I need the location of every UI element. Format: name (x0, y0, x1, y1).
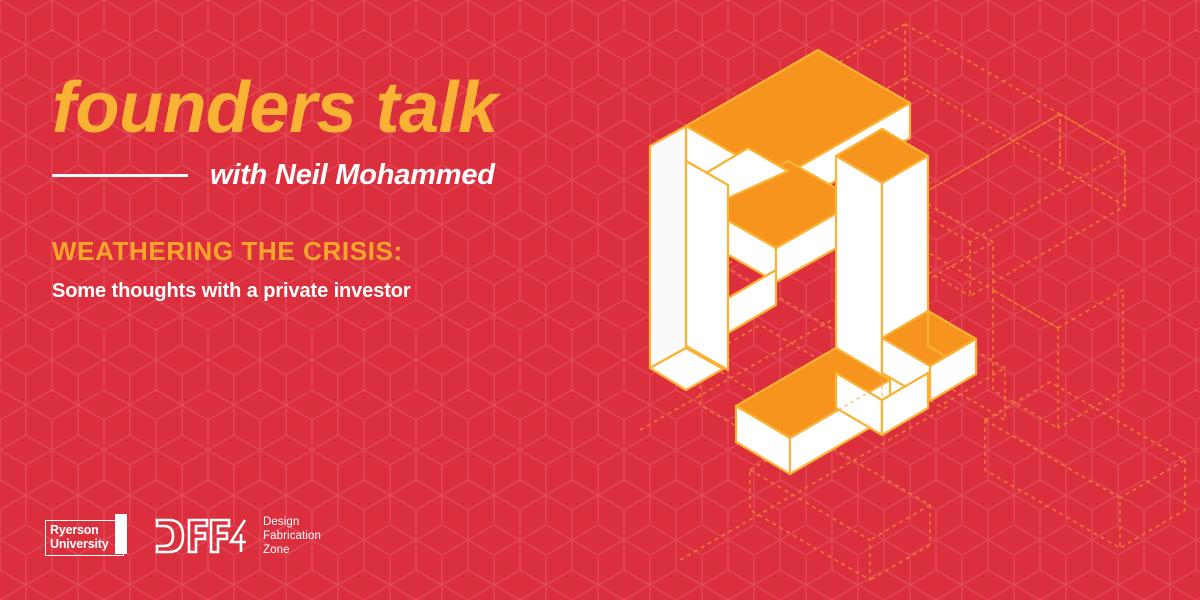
dfz-wordmark: Design Fabrication Zone (263, 515, 321, 557)
page-title: founders talk (52, 72, 498, 144)
isometric-fl-monogram-artwork (628, 8, 1048, 528)
byline-row: with Neil Mohammed (52, 160, 612, 192)
dfz-line3: Zone (263, 543, 321, 557)
byline-rule (52, 174, 188, 177)
dfz-line1: Design (263, 515, 321, 529)
poster-canvas: founders talk with Neil Mohammed WEATHER… (0, 0, 1200, 600)
ryerson-logo-line2: University (50, 538, 108, 552)
ryerson-logo-line1: Ryerson (50, 524, 108, 538)
dfz-line2: Fabrication (263, 529, 321, 543)
topic-subline: Some thoughts with a private investor (52, 279, 411, 303)
ryerson-logo-bar (115, 514, 127, 554)
dfz-monogram-icon (153, 514, 249, 558)
logo-lockup: Ryerson University Design Fabrication Zo… (45, 508, 321, 564)
byline-text: with Neil Mohammed (210, 160, 495, 192)
ryerson-logo-wordmark: Ryerson University (50, 524, 108, 551)
topic-kicker: WEATHERING THE CRISIS: (52, 237, 403, 267)
ryerson-university-logo: Ryerson University (45, 514, 137, 558)
